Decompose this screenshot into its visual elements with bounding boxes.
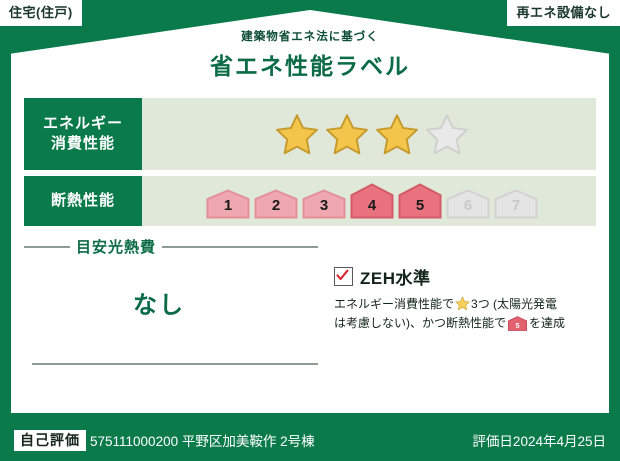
star-filled-icon [325,113,369,155]
utility-cost-value: なし [24,285,324,320]
energy-performance-value [142,98,596,170]
star-empty-icon [425,113,469,155]
house-badge-icon [446,189,490,219]
house-badge-icon [302,189,346,219]
insulation-level-badge: 3 [302,189,346,219]
insulation-level-badge: 5 [398,183,442,219]
rule-right [162,246,318,248]
zeh-desc-part1: エネルギー消費性能で [334,297,454,311]
insulation-performance-label: 断熱性能 [24,176,142,226]
energy-label-line2: 消費性能 [51,134,115,154]
insulation-performance-value: 1234567 [142,176,596,226]
utility-cost-bottom-rule [32,363,318,365]
energy-performance-label: 住宅(住戸) 再エネ設備なし 建築物省エネ法に基づく 省エネ性能ラベル エネルギ… [0,0,620,461]
self-evaluation-badge: 自己評価 [14,430,86,451]
footer-bar: 自己評価 575111000200 平野区加美鞍作 2号棟 評価日2024年4月… [0,419,620,461]
zeh-description: エネルギー消費性能で3つ (太陽光発電 は考慮しない)、かつ断熱性能で5を達成 [334,295,596,332]
star-rating [275,113,469,155]
house-badge-icon [398,183,442,219]
title-subtitle: 建築物省エネ法に基づく [0,28,620,44]
rule-left [24,246,70,248]
insulation-level-badge: 1 [206,189,250,219]
house-badge-icon [494,189,538,219]
zeh-desc-part3: は考慮しない)、かつ断熱性能で [334,316,506,330]
insulation-level-badge: 7 [494,189,538,219]
zeh-block: ZEH水準 エネルギー消費性能で3つ (太陽光発電 は考慮しない)、かつ断熱性能… [324,236,596,371]
zeh-title: ZEH水準 [360,264,431,289]
star-filled-icon [275,113,319,155]
zeh-checkbox[interactable] [334,267,353,286]
insulation-level-scale: 1234567 [206,183,538,219]
title-block: 建築物省エネ法に基づく 省エネ性能ラベル [0,28,620,81]
lower-section: 目安光熱費 なし ZEH水準 エネルギー消費性能で3つ (太陽光発電 [24,236,596,371]
energy-label-line1: エネルギー [43,114,123,134]
insulation-performance-row: 断熱性能 1234567 [24,176,596,226]
inline-house-value: 5 [515,320,519,329]
check-icon [336,269,349,282]
insulation-label-text: 断熱性能 [51,191,115,211]
evaluation-date: 評価日2024年4月25日 [472,430,606,450]
inline-star-icon [455,296,470,311]
insulation-level-badge: 2 [254,189,298,219]
house-badge-icon [206,189,250,219]
house-badge-icon [254,189,298,219]
utility-cost-header: 目安光熱費 [24,236,324,257]
utility-cost-title: 目安光熱費 [76,236,156,257]
building-id-and-address: 575111000200 平野区加美鞍作 2号棟 [90,430,315,450]
energy-performance-row: エネルギー 消費性能 [24,98,596,170]
insulation-level-badge: 4 [350,183,394,219]
house-badge-icon [350,183,394,219]
label-content: エネルギー 消費性能 断熱性能 1234567 目安光熱費 [24,98,596,403]
inline-house-badge-icon: 5 [508,316,527,331]
building-type-tag: 住宅(住戸) [0,0,82,26]
zeh-desc-part2: 3つ (太陽光発電 [471,297,557,311]
energy-performance-label: エネルギー 消費性能 [24,98,142,170]
page-title: 省エネ性能ラベル [0,47,620,81]
zeh-header: ZEH水準 [334,264,596,289]
zeh-desc-part4: を達成 [529,316,565,330]
renewable-equipment-tag: 再エネ設備なし [507,0,620,26]
utility-cost-block: 目安光熱費 なし [24,236,324,371]
insulation-level-badge: 6 [446,189,490,219]
star-filled-icon [375,113,419,155]
